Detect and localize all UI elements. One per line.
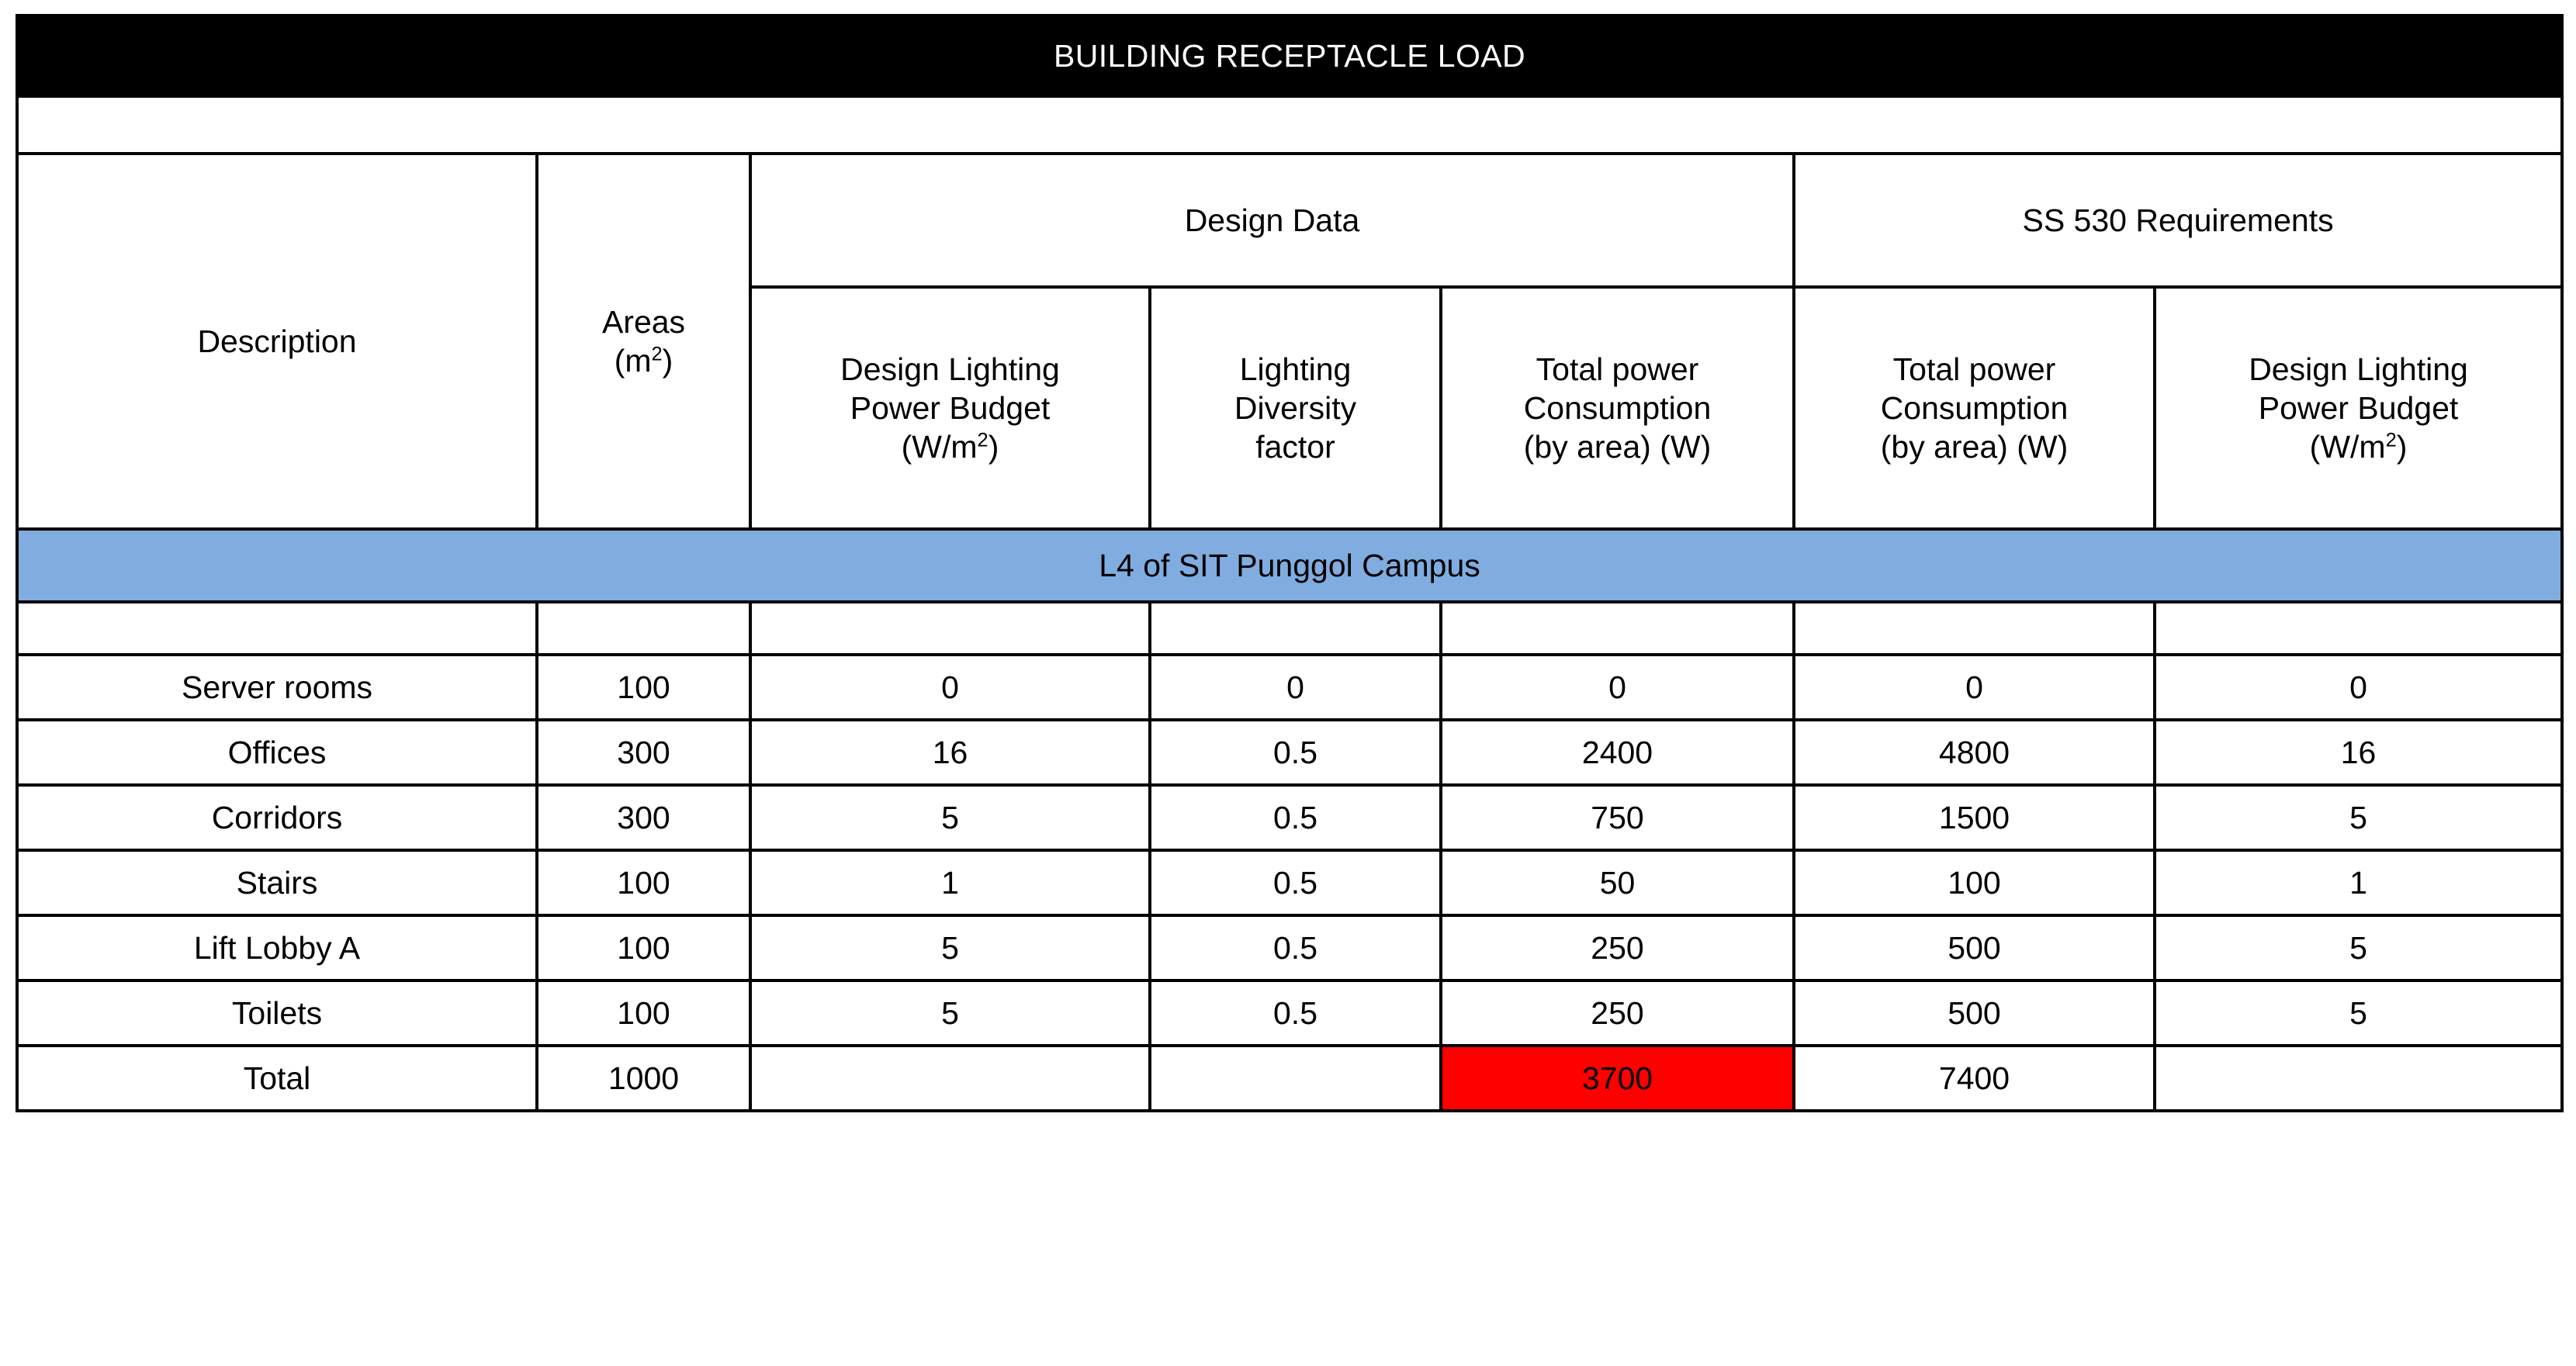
cell-description: Toilets: [17, 980, 537, 1046]
header-line-3: (by area) (W): [1881, 429, 2068, 465]
cell-design-total-power: 2400: [1441, 720, 1794, 785]
cell-area: 100: [537, 980, 750, 1046]
spacer-cell: [2155, 602, 2562, 655]
cell-diversity-factor: 0.5: [1150, 980, 1441, 1046]
column-header-ss530-design-lighting-power-budget: Design Lighting Power Budget (W/m2): [2155, 287, 2562, 529]
cell-area: 100: [537, 915, 750, 980]
cell-total-design-power-budget: [750, 1046, 1150, 1111]
cell-ss530-total-power: 500: [1794, 980, 2155, 1046]
cell-ss530-total-power: 500: [1794, 915, 2155, 980]
cell-description: Lift Lobby A: [17, 915, 537, 980]
header-line-2: Consumption: [1881, 390, 2069, 426]
cell-design-power-budget: 5: [750, 785, 1150, 850]
column-header-design-lighting-power-budget: Design Lighting Power Budget (W/m2): [750, 287, 1150, 529]
cell-total-diversity-factor: [1150, 1046, 1441, 1111]
spacer-cell: [17, 96, 2562, 154]
table-row: Stairs 100 1 0.5 50 100 1: [17, 850, 2562, 915]
areas-superscript: 2: [652, 343, 663, 365]
table-row: Lift Lobby A 100 5 0.5 250 500 5: [17, 915, 2562, 980]
header-line-2: Power Budget: [2259, 390, 2459, 426]
header-line-1: Total power: [1536, 351, 1699, 387]
cell-description: Corridors: [17, 785, 537, 850]
spacer-cell: [1794, 602, 2155, 655]
cell-ss530-power-budget: 5: [2155, 980, 2562, 1046]
spreadsheet-sheet: BUILDING RECEPTACLE LOAD Description Are…: [0, 0, 2576, 1366]
cell-total-label: Total: [17, 1046, 537, 1111]
header-line-1: Lighting: [1240, 351, 1352, 387]
cell-design-power-budget: 5: [750, 980, 1150, 1046]
spacer-cell: [1441, 602, 1794, 655]
spacer-cell: [1150, 602, 1441, 655]
cell-ss530-power-budget: 0: [2155, 655, 2562, 720]
cell-ss530-power-budget: 1: [2155, 850, 2562, 915]
table-row: Toilets 100 5 0.5 250 500 5: [17, 980, 2562, 1046]
column-header-lighting-diversity-factor: Lighting Diversity factor: [1150, 287, 1441, 529]
table-row: Offices 300 16 0.5 2400 4800 16: [17, 720, 2562, 785]
table-row: Corridors 300 5 0.5 750 1500 5: [17, 785, 2562, 850]
cell-area: 100: [537, 655, 750, 720]
header-line-1: Total power: [1893, 351, 2056, 387]
cell-design-power-budget: 1: [750, 850, 1150, 915]
column-header-ss530-total-power-consumption: Total power Consumption (by area) (W): [1794, 287, 2155, 529]
cell-total-design-total-power-highlighted: 3700: [1441, 1046, 1794, 1111]
header-line-1: Design Lighting: [2249, 351, 2468, 387]
header-line-3: (by area) (W): [1524, 429, 1711, 465]
cell-area: 300: [537, 785, 750, 850]
spacer-cell: [750, 602, 1150, 655]
cell-ss530-total-power: 4800: [1794, 720, 2155, 785]
cell-design-total-power: 250: [1441, 915, 1794, 980]
cell-description: Server rooms: [17, 655, 537, 720]
cell-ss530-power-budget: 5: [2155, 915, 2562, 980]
cell-diversity-factor: 0.5: [1150, 785, 1441, 850]
header-line-2: Diversity: [1234, 390, 1356, 426]
cell-area: 100: [537, 850, 750, 915]
cell-area: 300: [537, 720, 750, 785]
cell-diversity-factor: 0.5: [1150, 915, 1441, 980]
spacer-cell: [17, 602, 537, 655]
cell-design-power-budget: 0: [750, 655, 1150, 720]
unit-superscript: 2: [2386, 429, 2397, 451]
cell-total-ss530-total-power: 7400: [1794, 1046, 2155, 1111]
areas-label-line2: (m2): [615, 343, 673, 379]
cell-ss530-total-power: 0: [1794, 655, 2155, 720]
section-banner-label: L4 of SIT Punggol Campus: [17, 529, 2562, 602]
column-header-description: Description: [17, 154, 537, 529]
cell-design-power-budget: 5: [750, 915, 1150, 980]
unit-superscript: 2: [978, 429, 989, 451]
cell-total-ss530-power-budget: [2155, 1046, 2562, 1111]
header-line-3: (W/m2): [902, 429, 999, 465]
header-line-3: (W/m2): [2310, 429, 2408, 465]
table-total-row: Total 1000 3700 7400: [17, 1046, 2562, 1111]
cell-description: Stairs: [17, 850, 537, 915]
header-line-3: factor: [1255, 429, 1335, 465]
cell-design-total-power: 0: [1441, 655, 1794, 720]
cell-total-area: 1000: [537, 1046, 750, 1111]
building-receptacle-load-table: BUILDING RECEPTACLE LOAD Description Are…: [16, 14, 2564, 1112]
page-title: BUILDING RECEPTACLE LOAD: [17, 16, 2562, 96]
header-line-2: Consumption: [1524, 390, 1712, 426]
cell-ss530-power-budget: 16: [2155, 720, 2562, 785]
table-row: Server rooms 100 0 0 0 0 0: [17, 655, 2562, 720]
spacer-cell: [537, 602, 750, 655]
group-header-design-data: Design Data: [750, 154, 1794, 287]
cell-design-total-power: 750: [1441, 785, 1794, 850]
spacer-row-top: [17, 96, 2562, 154]
cell-diversity-factor: 0.5: [1150, 850, 1441, 915]
areas-label-line1: Areas: [602, 304, 685, 340]
cell-diversity-factor: 0.5: [1150, 720, 1441, 785]
cell-design-total-power: 250: [1441, 980, 1794, 1046]
cell-ss530-total-power: 1500: [1794, 785, 2155, 850]
title-row: BUILDING RECEPTACLE LOAD: [17, 16, 2562, 96]
cell-design-total-power: 50: [1441, 850, 1794, 915]
column-header-design-total-power-consumption: Total power Consumption (by area) (W): [1441, 287, 1794, 529]
column-header-areas: Areas (m2): [537, 154, 750, 529]
group-header-ss530-requirements: SS 530 Requirements: [1794, 154, 2562, 287]
cell-design-power-budget: 16: [750, 720, 1150, 785]
cell-ss530-power-budget: 5: [2155, 785, 2562, 850]
header-line-1: Design Lighting: [840, 351, 1060, 387]
section-banner-row: L4 of SIT Punggol Campus: [17, 529, 2562, 602]
header-line-2: Power Budget: [850, 390, 1051, 426]
cell-description: Offices: [17, 720, 537, 785]
spacer-row-middle: [17, 602, 2562, 655]
cell-ss530-total-power: 100: [1794, 850, 2155, 915]
cell-diversity-factor: 0: [1150, 655, 1441, 720]
group-header-row: Description Areas (m2) Design Data SS 53…: [17, 154, 2562, 287]
